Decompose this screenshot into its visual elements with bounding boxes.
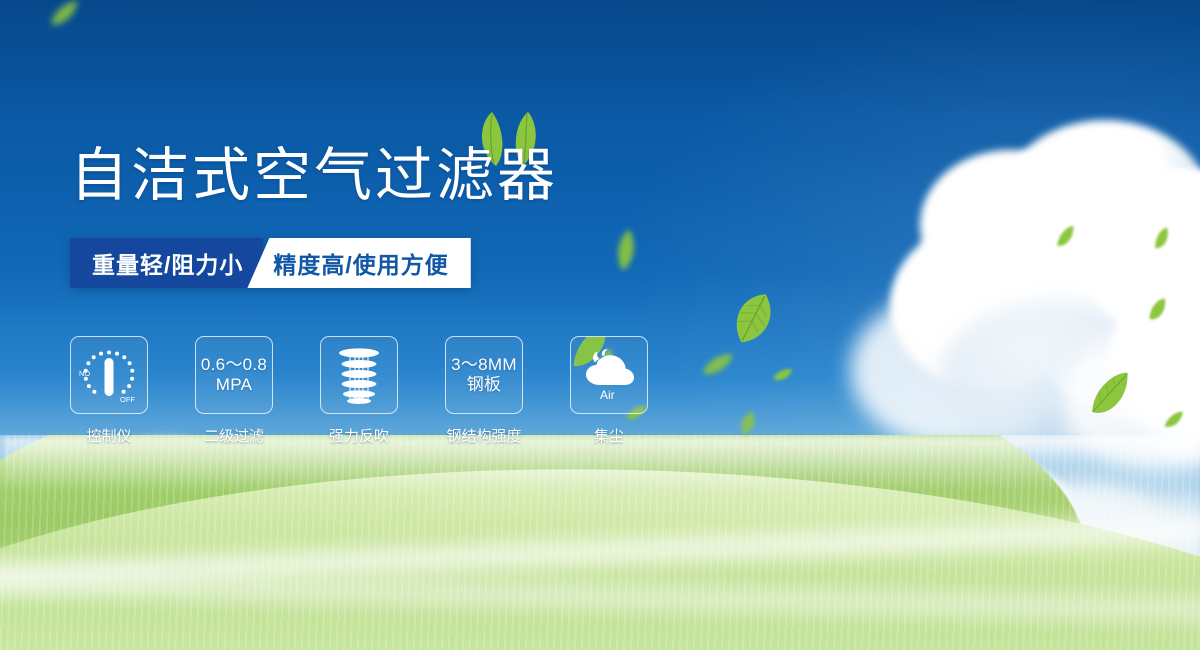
product-banner: 自洁式空气过滤器 重量轻/阻力小 精度高/使用方便 <box>0 0 1200 650</box>
feature-icon-box[interactable]: 0.6～0.8 MPA <box>195 336 273 414</box>
feature-label: 钢结构强度 <box>446 425 521 446</box>
filter-cartridge-icon <box>329 344 389 406</box>
page-title: 自洁式空气过滤器 <box>70 140 558 212</box>
feature-text-line1: 3～8MM <box>451 355 517 375</box>
feature-item[interactable]: 0.6～0.8 MPA 二级过滤 <box>195 336 273 446</box>
feature-item[interactable]: 3～8MM 钢板 钢结构强度 <box>445 336 523 446</box>
air-label: Air <box>600 388 615 402</box>
feature-label: 集尘 <box>594 425 624 446</box>
feature-label: 强力反吹 <box>329 425 389 446</box>
dial-gauge-icon: NO OFF <box>76 342 142 408</box>
subtitle-left: 重量轻/阻力小 <box>70 238 263 288</box>
feature-text-line1: 0.6～0.8 <box>201 355 267 375</box>
feature-label: 二级过滤 <box>204 425 264 446</box>
feature-icon-box[interactable]: Air <box>570 336 648 414</box>
gauge-off-label: OFF <box>120 395 135 404</box>
cloud-air-icon: Air <box>579 347 639 403</box>
subtitle-right: 精度高/使用方便 <box>247 238 470 288</box>
pressure-text-icon: 0.6～0.8 MPA <box>201 355 267 395</box>
feature-list: NO OFF 控制仪 0.6～0.8 MPA 二级过滤 <box>70 336 648 446</box>
feature-icon-box[interactable]: 3～8MM 钢板 <box>445 336 523 414</box>
feature-item[interactable]: Air 集尘 <box>570 336 648 446</box>
feature-icon-box[interactable]: NO OFF <box>70 336 148 414</box>
feature-item[interactable]: 强力反吹 <box>320 336 398 446</box>
feature-item[interactable]: NO OFF 控制仪 <box>70 336 148 446</box>
feature-text-line2: 钢板 <box>451 375 517 395</box>
steel-text-icon: 3～8MM 钢板 <box>451 355 517 395</box>
subtitle-bar: 重量轻/阻力小 精度高/使用方便 <box>70 238 471 288</box>
feature-text-line2: MPA <box>201 375 267 395</box>
feature-icon-box[interactable] <box>320 336 398 414</box>
gauge-no-label: NO <box>79 369 90 378</box>
banner-content: 自洁式空气过滤器 重量轻/阻力小 精度高/使用方便 <box>0 0 1200 650</box>
feature-label: 控制仪 <box>86 425 131 446</box>
